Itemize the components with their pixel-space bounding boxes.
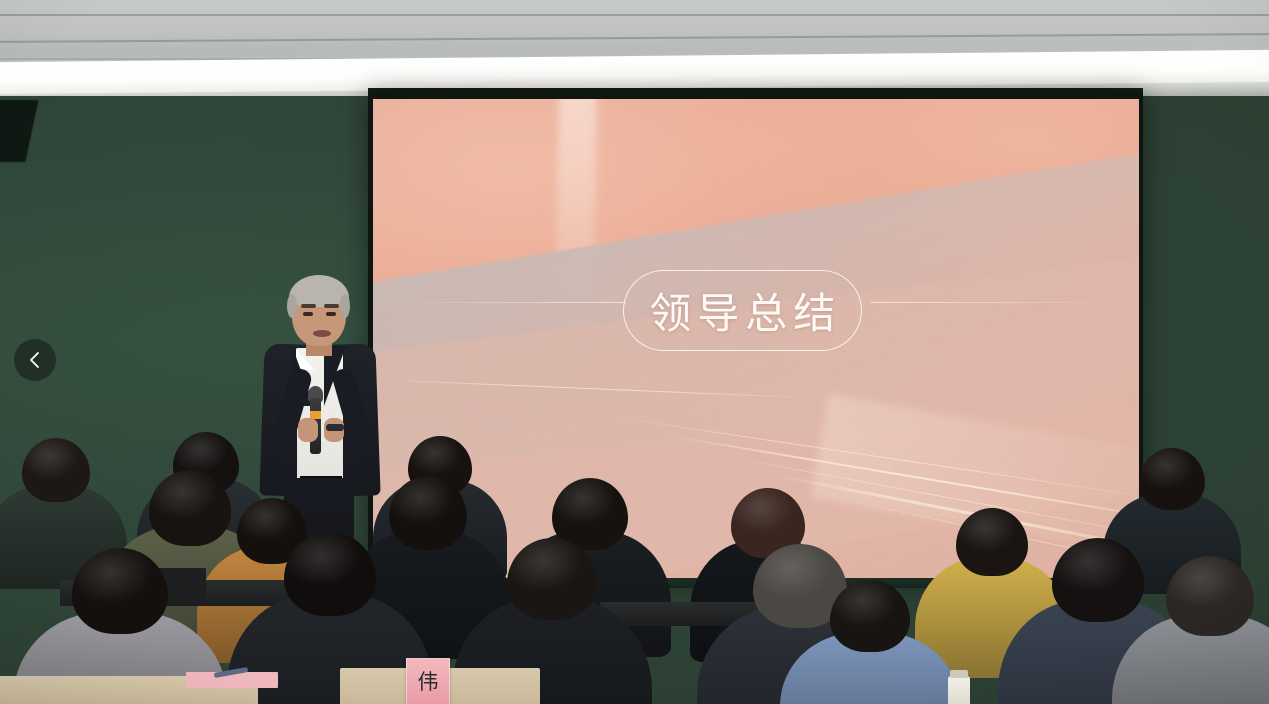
presenter-eyebrow [324, 304, 339, 308]
presenter-hair-side [340, 294, 350, 318]
attendee-knit-right [1112, 556, 1269, 704]
prev-image-button[interactable] [14, 339, 56, 381]
bottle-cap [950, 670, 968, 678]
slide-rule-left [396, 302, 626, 303]
audience: 伟 [0, 430, 1269, 704]
placard-name: 伟 [418, 672, 439, 693]
attendee-blue-jacket [780, 580, 960, 704]
attendee-back-right-head [1139, 448, 1205, 510]
photo-viewer: 领导总结 [0, 0, 1269, 704]
presenter-hair-side [287, 294, 297, 318]
slide-title-pill: 领导总结 [623, 270, 862, 351]
presenter-eye [303, 312, 313, 316]
attendee-dark-suit-b-head [507, 538, 597, 620]
attendee-back-left-a-head [22, 438, 90, 502]
slide-rule-right [871, 302, 1124, 303]
attendee-blue-jacket-head [830, 580, 910, 652]
name-placard: 伟 [406, 658, 450, 704]
presenter-eyebrow [301, 304, 316, 308]
ceiling-seam [0, 14, 1269, 16]
attendee-knit-right-head [1166, 556, 1254, 636]
presenter-eye [326, 312, 336, 316]
ceiling-seam [0, 33, 1269, 43]
attendee-dark-suit-a-head [284, 532, 376, 616]
chevron-left-icon [27, 350, 43, 370]
conference-room-scene: 领导总结 [0, 0, 1269, 704]
presenter-mouth [313, 330, 331, 337]
water-bottle [948, 676, 970, 704]
attendee-gray-suit-head [72, 548, 168, 634]
slide-title: 领导总结 [643, 280, 841, 341]
